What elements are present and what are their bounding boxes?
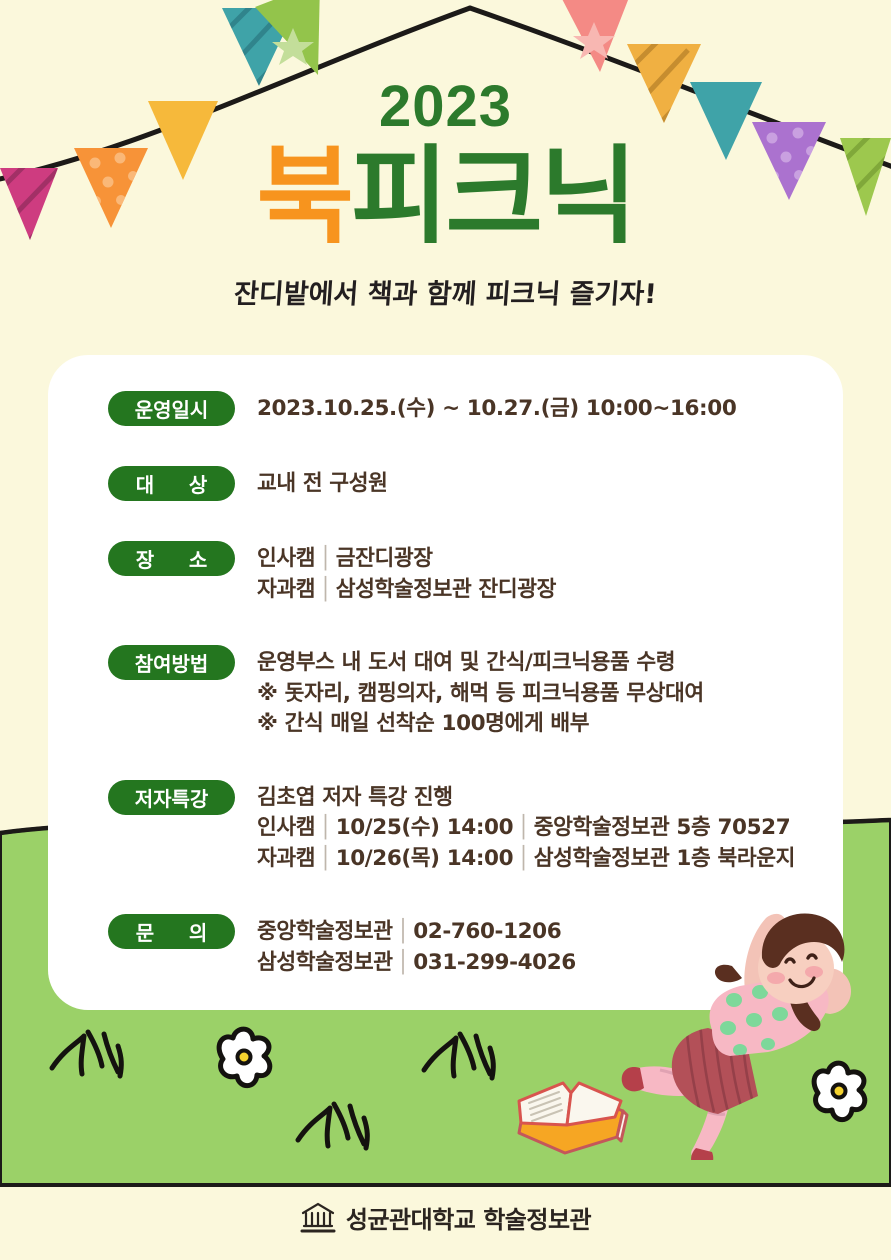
contact-line-1: 중앙학술정보관│02-760-1206	[257, 917, 576, 948]
location-line-1: 인사캠│금잔디광장	[257, 544, 556, 575]
location-value-2: 삼성학술정보관 잔디광장	[336, 577, 556, 602]
separator: │	[513, 846, 534, 871]
separator: │	[315, 577, 336, 602]
year-label: 2023	[0, 78, 891, 136]
lecture-place-2: 삼성학술정보관 1층 북라운지	[534, 846, 795, 871]
footer-organization: 성균관대학교 학술정보관	[346, 1200, 591, 1235]
location-campus-1: 인사캠	[257, 546, 315, 571]
badge-lecture: 저자특강	[108, 780, 235, 815]
participation-line-2: ※ 돗자리, 캠핑의자, 해먹 등 피크닉용품 무상대여	[257, 679, 704, 710]
separator: │	[393, 950, 414, 975]
title-block: 2023 북피크닉 잔디밭에서 책과 함께 피크닉 즐기자!	[0, 78, 891, 311]
content-participation: 운영부스 내 도서 대여 및 간식/피크닉용품 수령 ※ 돗자리, 캠핑의자, …	[257, 645, 704, 740]
location-campus-2: 자과캠	[257, 577, 315, 602]
page-title: 북피크닉	[0, 140, 891, 254]
subtitle: 잔디밭에서 책과 함께 피크닉 즐기자!	[0, 272, 891, 311]
separator: │	[315, 546, 336, 571]
participation-line-1: 운영부스 내 도서 대여 및 간식/피크닉용품 수령	[257, 648, 704, 679]
info-row-schedule: 운영일시 2023.10.25.(수) ~ 10.27.(금) 10:00~16…	[48, 391, 843, 426]
content-location: 인사캠│금잔디광장 자과캠│삼성학술정보관 잔디광장	[257, 541, 556, 605]
participation-line-3: ※ 간식 매일 선착순 100명에게 배부	[257, 709, 704, 740]
lecture-line-2: 인사캠│10/25(수) 14:00│중앙학술정보관 5층 70527	[257, 813, 795, 844]
grass-tuft-3	[298, 1104, 367, 1148]
footer: 성균관대학교 학술정보관	[0, 1200, 891, 1235]
info-row-audience: 대 상 교내 전 구성원	[48, 466, 843, 501]
book-open-right	[567, 1083, 621, 1125]
lecture-campus-1: 인사캠	[257, 815, 315, 840]
info-row-lecture: 저자특강 김초엽 저자 특강 진행 인사캠│10/25(수) 14:00│중앙학…	[48, 780, 843, 875]
badge-contact: 문 의	[108, 914, 235, 949]
contact-phone-1[interactable]: 02-760-1206	[413, 919, 561, 944]
info-row-location: 장 소 인사캠│금잔디광장 자과캠│삼성학술정보관 잔디광장	[48, 541, 843, 605]
contact-name-2: 삼성학술정보관	[257, 950, 393, 975]
lecture-line-1: 김초엽 저자 특강 진행	[257, 783, 795, 814]
lecture-line-3: 자과캠│10/26(목) 14:00│삼성학술정보관 1층 북라운지	[257, 844, 795, 875]
badge-participation: 참여방법	[108, 645, 235, 680]
content-contact: 중앙학술정보관│02-760-1206 삼성학술정보관│031-299-4026	[257, 914, 576, 978]
title-part-picnic: 피크닉	[351, 135, 635, 258]
content-schedule: 2023.10.25.(수) ~ 10.27.(금) 10:00~16:00	[257, 391, 736, 425]
audience-line-1: 교내 전 구성원	[257, 469, 387, 500]
separator: │	[513, 815, 534, 840]
poster-root: 2023 북피크닉 잔디밭에서 책과 함께 피크닉 즐기자! 운영일시 2023…	[0, 0, 891, 1260]
location-line-2: 자과캠│삼성학술정보관 잔디광장	[257, 575, 556, 606]
classical-building-icon	[300, 1201, 336, 1235]
lecture-place-1: 중앙학술정보관 5층 70527	[534, 815, 791, 840]
separator: │	[393, 919, 414, 944]
stacked-books-illustration	[505, 1063, 635, 1163]
girl-cheek-right	[805, 966, 823, 978]
girl-braid-left	[715, 965, 742, 983]
content-audience: 교내 전 구성원	[257, 466, 387, 500]
content-lecture: 김초엽 저자 특강 진행 인사캠│10/25(수) 14:00│중앙학술정보관 …	[257, 780, 795, 875]
girl-cheek-left	[767, 972, 785, 984]
schedule-line-1: 2023.10.25.(수) ~ 10.27.(금) 10:00~16:00	[257, 394, 736, 425]
contact-name-1: 중앙학술정보관	[257, 919, 393, 944]
separator: │	[315, 815, 336, 840]
badge-schedule: 운영일시	[108, 391, 235, 426]
separator: │	[315, 846, 336, 871]
lecture-time-2: 10/26(목) 14:00	[336, 846, 513, 871]
lecture-time-1: 10/25(수) 14:00	[336, 815, 513, 840]
info-row-participation: 참여방법 운영부스 내 도서 대여 및 간식/피크닉용품 수령 ※ 돗자리, 캠…	[48, 645, 843, 740]
grass-tuft-1	[52, 1032, 121, 1076]
title-part-book: 북	[256, 135, 351, 258]
badge-location: 장 소	[108, 541, 235, 576]
girl-lying-on-grass-illustration	[600, 900, 891, 1165]
lecture-campus-2: 자과캠	[257, 846, 315, 871]
location-value-1: 금잔디광장	[336, 546, 433, 571]
contact-line-2: 삼성학술정보관│031-299-4026	[257, 948, 576, 979]
daisy-flower-1	[219, 1029, 270, 1086]
grass-tuft-2	[424, 1034, 493, 1078]
badge-audience: 대 상	[108, 466, 235, 501]
contact-phone-2[interactable]: 031-299-4026	[413, 950, 576, 975]
